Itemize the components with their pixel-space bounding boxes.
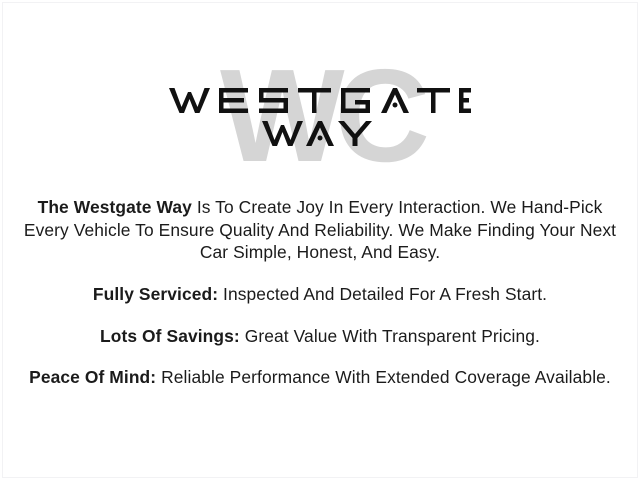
- westgate-way-logo: WC: [0, 52, 640, 180]
- paragraph-lead: Lots Of Savings:: [100, 326, 240, 346]
- dealer-value-proposition-panel: WC: [0, 0, 640, 480]
- paragraph-fully-serviced: Fully Serviced: Inspected And Detailed F…: [14, 283, 626, 306]
- logo-wordmark-westgate: [169, 85, 471, 115]
- paragraph-peace-of-mind: Peace Of Mind: Reliable Performance With…: [14, 366, 626, 389]
- value-proposition-copy: The Westgate Way Is To Create Joy In Eve…: [14, 196, 626, 389]
- paragraph-lead: Peace Of Mind:: [29, 367, 156, 387]
- paragraph-lead: Fully Serviced:: [93, 284, 218, 304]
- paragraph-westgate-way: The Westgate Way Is To Create Joy In Eve…: [14, 196, 626, 264]
- paragraph-body: Inspected And Detailed For A Fresh Start…: [218, 284, 547, 304]
- logo-wordmark-way: [262, 119, 378, 147]
- paragraph-lead: The Westgate Way: [38, 197, 192, 217]
- paragraph-body: Reliable Performance With Extended Cover…: [156, 367, 611, 387]
- logo-wordmark-group: [0, 52, 640, 180]
- paragraph-body: Great Value With Transparent Pricing.: [240, 326, 540, 346]
- paragraph-lots-of-savings: Lots Of Savings: Great Value With Transp…: [14, 325, 626, 348]
